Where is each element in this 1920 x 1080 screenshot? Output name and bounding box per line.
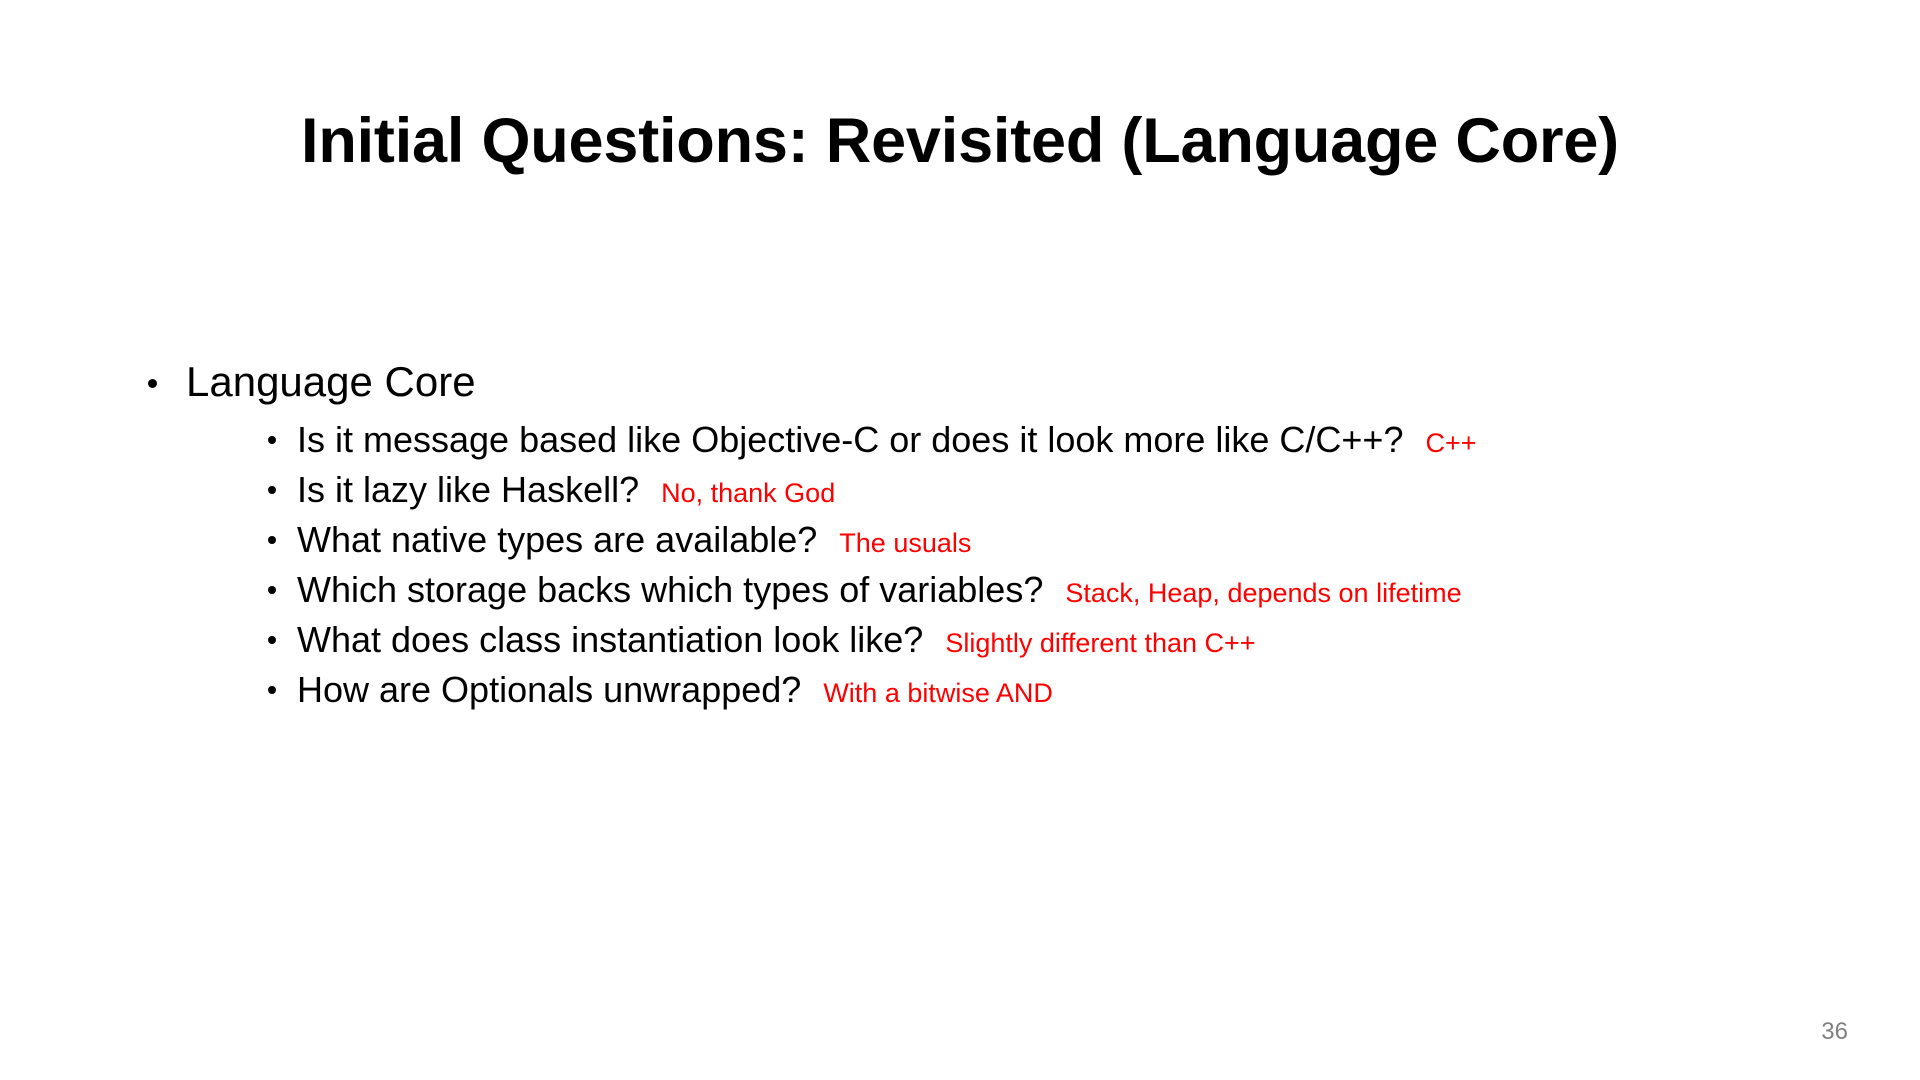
sub-bullet-answer: Stack, Heap, depends on lifetime	[1065, 578, 1461, 608]
sub-bullet-item: What does class instantiation look like?…	[265, 615, 1840, 665]
bullet-dot-icon	[268, 436, 276, 444]
bullet-dot-icon	[268, 486, 276, 494]
sub-bullet-answer: The usuals	[839, 528, 971, 558]
sub-bullet-question: What does class instantiation look like?	[297, 619, 923, 660]
bullet-dot-icon	[268, 686, 276, 694]
bullet-dot-icon	[268, 586, 276, 594]
sub-bullet-question: Which storage backs which types of varia…	[297, 569, 1043, 610]
sub-bullet-answer: C++	[1425, 428, 1476, 458]
bullet-dot-icon	[148, 379, 157, 388]
sub-bullet-question: What native types are available?	[297, 519, 817, 560]
sub-bullet-question: How are Optionals unwrapped?	[297, 669, 801, 710]
sub-bullet-item: What native types are available?The usua…	[265, 515, 1840, 565]
bullet-dot-icon	[268, 536, 276, 544]
slide-body: Language Core Is it message based like O…	[140, 358, 1840, 723]
sub-bullet-question: Is it message based like Objective-C or …	[297, 419, 1403, 460]
sub-bullet-answer: Slightly different than C++	[945, 628, 1255, 658]
sub-bullet-answer: No, thank God	[661, 478, 835, 508]
bullet-dot-icon	[268, 636, 276, 644]
sub-bullet-list: Is it message based like Objective-C or …	[186, 415, 1840, 715]
slide: Initial Questions: Revisited (Language C…	[0, 0, 1920, 1080]
sub-bullet-item: Is it lazy like Haskell?No, thank God	[265, 465, 1840, 515]
bullet-level1-label: Language Core	[186, 358, 476, 405]
bullet-level1-language-core: Language Core Is it message based like O…	[140, 358, 1840, 715]
sub-bullet-answer: With a bitwise AND	[823, 678, 1053, 708]
sub-bullet-item: Is it message based like Objective-C or …	[265, 415, 1840, 465]
sub-bullet-item: Which storage backs which types of varia…	[265, 565, 1840, 615]
sub-bullet-item: How are Optionals unwrapped?With a bitwi…	[265, 665, 1840, 715]
page-number: 36	[1821, 1018, 1848, 1046]
page-title: Initial Questions: Revisited (Language C…	[0, 108, 1920, 174]
sub-bullet-question: Is it lazy like Haskell?	[297, 469, 639, 510]
